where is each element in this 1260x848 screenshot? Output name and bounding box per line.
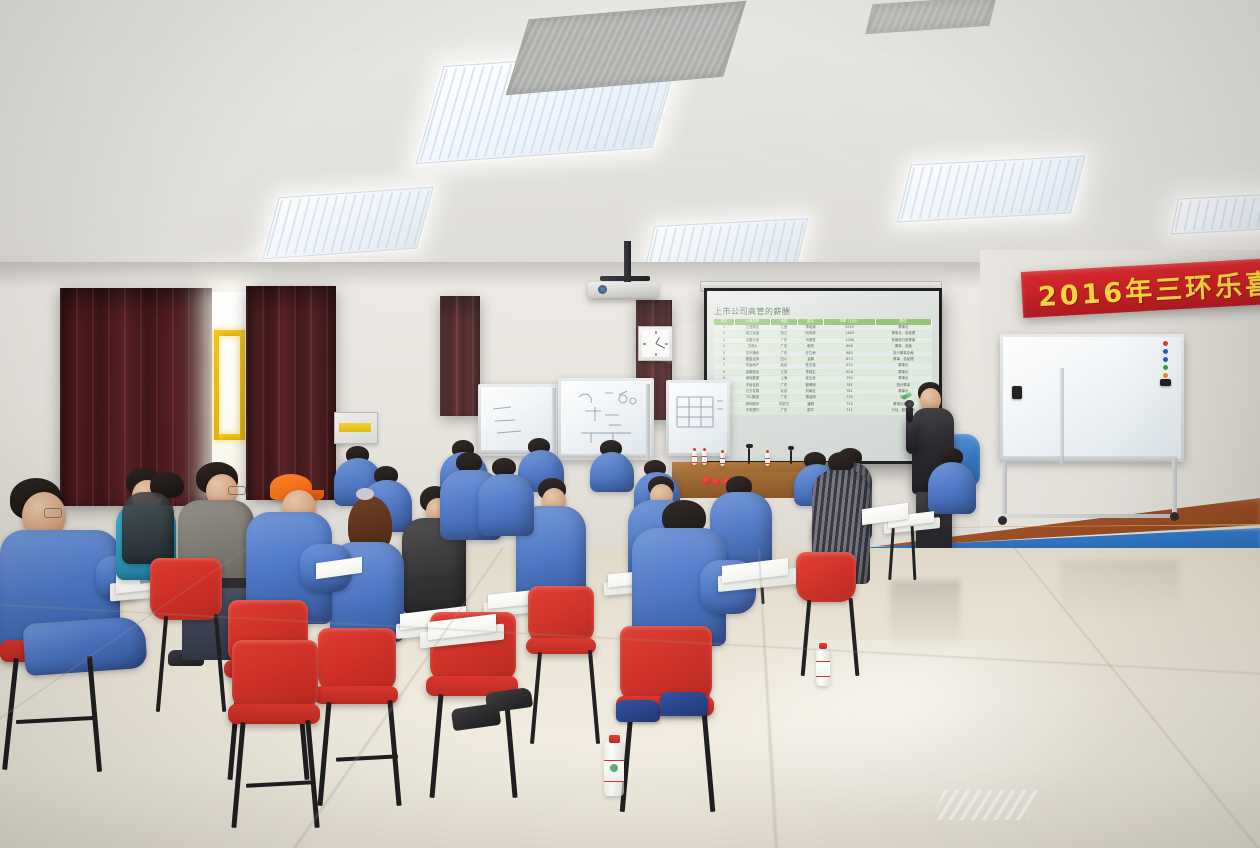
slide-content: 上市公司高管的薪酬 排名公司名称地区姓名年薪（万元）职位 1江西铜业江西李贻道2…: [714, 306, 932, 442]
attendee-legs: [22, 616, 147, 676]
attendee-torso: [928, 462, 976, 514]
whiteboard-floor-reflection: [1060, 560, 1180, 620]
blackout-curtain-right: [246, 286, 336, 500]
table-flower: [702, 476, 711, 485]
whiteboard-eraser: [1012, 386, 1022, 399]
whiteboard-leg: [1172, 458, 1177, 516]
ceiling-light-panel: [897, 155, 1086, 222]
air-vent: [865, 0, 997, 34]
ceiling-light-panel: [262, 187, 433, 260]
table-microphone: [790, 450, 792, 464]
chair-back: [318, 628, 396, 692]
air-vent: [506, 1, 747, 96]
eyeglasses-icon: [228, 486, 246, 495]
water-bottle-floor: [816, 648, 830, 686]
photograph-training-room: 上市公司高管的薪酬 排名公司名称地区姓名年薪（万元）职位 1江西铜业江西李贻道2…: [0, 0, 1260, 848]
water-bottle: [692, 450, 697, 465]
ceiling-light-panel: [1171, 193, 1260, 234]
presenter-floor-reflection: [890, 580, 960, 650]
whiteboard-eraser: [1160, 379, 1171, 386]
table-flower: [712, 478, 720, 486]
mobile-whiteboard-surface: [1003, 337, 1181, 459]
whiteboard-grid-right: [669, 383, 727, 453]
slide-table-cell: 平安银行: [734, 408, 770, 414]
attendee-torso-dark: [122, 492, 174, 564]
magnet-orange-icon: [1163, 373, 1168, 378]
ceiling-light-floor-reflection: [932, 790, 1040, 820]
chair-back: [528, 586, 594, 644]
bottle-cap: [819, 643, 827, 649]
slide-table-cell: 邵平: [797, 408, 824, 414]
attendee-hair: [828, 452, 854, 472]
whiteboard-support-arm: [1060, 368, 1064, 464]
bottle-cap: [609, 735, 620, 743]
chair-back: [796, 552, 856, 602]
electrical-panel: [334, 412, 378, 444]
whiteboard-leg: [646, 384, 650, 460]
water-bottle: [720, 452, 725, 466]
slide-title: 上市公司高管的薪酬: [714, 306, 932, 317]
floor-highlight: [700, 640, 1120, 820]
whiteboard-base-bar: [1002, 514, 1178, 518]
whiteboard-caster: [998, 516, 1007, 525]
chair-back: [150, 558, 222, 620]
slide-table-cell: 711: [824, 408, 875, 414]
attendee-hair: [456, 452, 482, 472]
eyeglasses-icon: [44, 508, 62, 518]
hair-tie: [356, 488, 374, 500]
projector-lens: [598, 285, 607, 294]
attendee-sneaker: [660, 692, 708, 716]
microphone-head: [905, 400, 914, 408]
water-bottle: [702, 450, 707, 465]
slide-table-body: 1江西铜业江西李贻道2019董事长2浙江龙盛浙江阮伟祥1483董事长、总经理3中…: [714, 325, 932, 414]
table-microphone: [748, 448, 750, 464]
ceiling-projector: [588, 282, 658, 298]
slide-data-table: 排名公司名称地区姓名年薪（万元）职位 1江西铜业江西李贻道2019董事长2浙江龙…: [714, 319, 932, 414]
water-bottle: [765, 452, 770, 466]
projector-mount-arm: [600, 276, 650, 281]
magnet-green-icon: [1163, 365, 1168, 370]
chair-back-empty: [232, 640, 318, 710]
whiteboard-leg: [552, 388, 556, 460]
slide-table-cell: 广东: [771, 408, 798, 414]
whiteboard-back-right: [666, 380, 730, 456]
table-microphone-head: [788, 446, 794, 450]
chair-back: [620, 626, 712, 702]
mobile-whiteboard: [1000, 334, 1184, 462]
attendee-torso: [478, 474, 534, 536]
projection-screen-surface: 上市公司高管的薪酬 排名公司名称地区姓名年薪（万元）职位 1江西铜业江西李贻道2…: [707, 291, 939, 461]
blackout-curtain-mid: [440, 296, 480, 416]
attendee-sneaker: [616, 700, 660, 722]
slide-table-row: 14平安银行广东邵平711行长、副董事长: [714, 408, 932, 414]
magnet-blue-icon: [1163, 357, 1168, 362]
window-frame-right: [240, 330, 245, 440]
chair-seat: [526, 638, 596, 654]
whiteboard-leg: [1002, 462, 1007, 520]
panel-warning-label: [339, 423, 371, 432]
attendee-torso: [590, 452, 634, 492]
magnet-red-icon: [1163, 341, 1168, 346]
bottle-brand-mark: [610, 764, 618, 772]
handheld-microphone: [906, 406, 913, 422]
table-microphone-head: [746, 444, 753, 448]
water-bottle-floor: [604, 742, 624, 796]
whiteboard-caster: [1170, 512, 1179, 521]
magnet-blue-icon: [1163, 349, 1168, 354]
window-frame-left: [214, 330, 219, 440]
bottle-label: [816, 661, 830, 677]
mobile-whiteboard-tray: [1000, 456, 1178, 462]
